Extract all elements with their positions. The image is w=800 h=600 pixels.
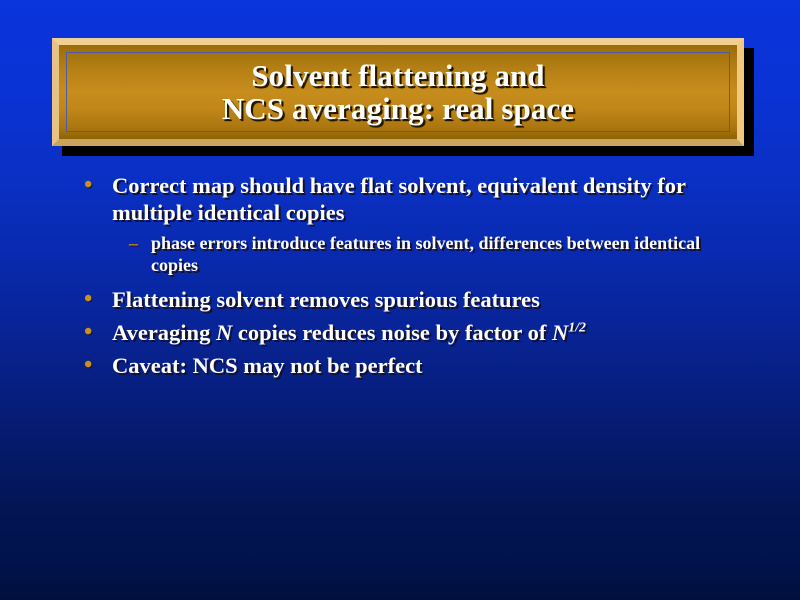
bullet-item-2: – phase errors introduce features in sol… (129, 232, 724, 276)
sub-bullet-text: phase errors introduce features in solve… (151, 232, 724, 276)
formula-exponent: 1/2 (568, 321, 586, 336)
formula-pre: Averaging (112, 320, 216, 345)
formula-variable-n-2: N (552, 320, 568, 345)
formula-mid: copies reduces noise by factor of (232, 320, 552, 345)
bullet-text: Caveat: NCS may not be perfect (112, 352, 423, 379)
bullet-item-3: • Flattening solvent removes spurious fe… (84, 286, 724, 313)
slide-body: • Correct map should have flat solvent, … (84, 172, 724, 385)
bullet-item-5: • Caveat: NCS may not be perfect (84, 352, 724, 379)
bullet-item-1: • Correct map should have flat solvent, … (84, 172, 724, 226)
title-inner-frame: Solvent flattening and NCS averaging: re… (66, 52, 730, 132)
title-line-1: Solvent flattening and (251, 59, 544, 92)
slide-canvas: Solvent flattening and NCS averaging: re… (0, 0, 800, 600)
bullet-text-formula: Averaging N copies reduces noise by fact… (112, 319, 586, 346)
sub-bullet-dash-icon: – (129, 232, 151, 254)
bullet-marker-icon: • (84, 319, 112, 346)
bullet-text: Correct map should have flat solvent, eq… (112, 172, 724, 226)
bullet-marker-icon: • (84, 286, 112, 313)
bullet-marker-icon: • (84, 172, 112, 199)
bullet-item-4: • Averaging N copies reduces noise by fa… (84, 319, 724, 346)
bullet-marker-icon: • (84, 352, 112, 379)
slide-title-block: Solvent flattening and NCS averaging: re… (52, 38, 744, 146)
title-box: Solvent flattening and NCS averaging: re… (52, 38, 744, 146)
formula-variable-n-1: N (216, 320, 232, 345)
bullet-text: Flattening solvent removes spurious feat… (112, 286, 540, 313)
title-line-2: NCS averaging: real space (222, 92, 574, 125)
